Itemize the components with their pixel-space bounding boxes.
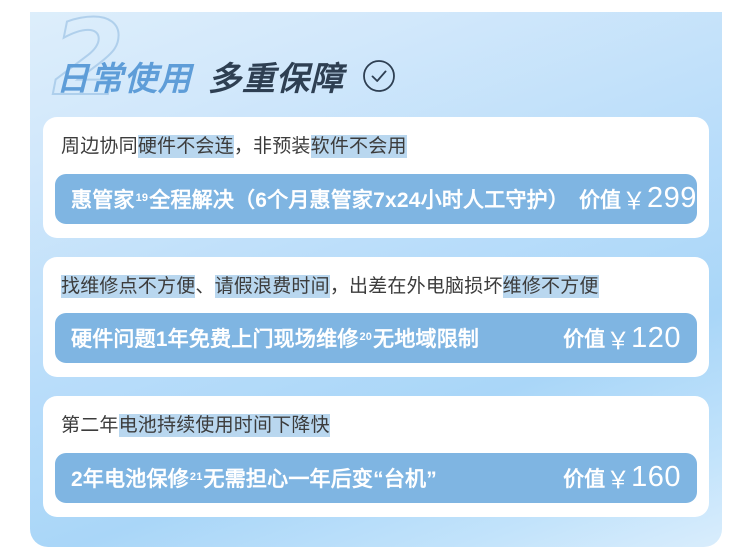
problem-text: ，非预装 xyxy=(234,136,311,157)
problem-statement: 第二年电池持续使用时间下降快 xyxy=(43,410,709,441)
benefit-pill: 惠管家19全程解决（6个月惠管家7x24小时人工守护）价值￥299 xyxy=(55,174,697,224)
problem-highlight: 软件不会用 xyxy=(311,135,407,158)
problem-statement: 找维修点不方便、请假浪费时间，出差在外电脑损坏维修不方便 xyxy=(43,271,709,302)
problem-text: 、 xyxy=(195,276,214,297)
price-label: 价值 xyxy=(563,463,605,493)
check-circle-icon xyxy=(362,59,396,93)
benefit-description-lead: 硬件问题1年免费上门现场维修 xyxy=(71,323,358,353)
problem-highlight: 请假浪费时间 xyxy=(215,275,330,298)
problem-text: 第二年 xyxy=(61,415,119,436)
price-amount: 120 xyxy=(631,322,681,355)
benefit-card: 第二年电池持续使用时间下降快2年电池保修21无需担心一年后变“台机”价值￥160 xyxy=(43,396,709,517)
benefit-value-price: 价值￥299 xyxy=(579,181,697,216)
problem-highlight: 找维修点不方便 xyxy=(61,275,195,298)
benefit-value-price: 价值￥120 xyxy=(563,321,681,356)
benefit-card-list: 周边协同硬件不会连，非预装软件不会用惠管家19全程解决（6个月惠管家7x24小时… xyxy=(43,117,709,517)
problem-text: 周边协同 xyxy=(61,136,138,157)
price-amount: 160 xyxy=(631,461,681,494)
price-amount: 299 xyxy=(647,182,697,215)
problem-statement: 周边协同硬件不会连，非预装软件不会用 xyxy=(43,131,709,162)
price-currency-symbol: ￥ xyxy=(622,181,646,216)
benefit-value-price: 价值￥160 xyxy=(563,460,681,495)
problem-text: ，出差在外电脑损坏 xyxy=(330,276,503,297)
benefit-description-rest: 无需担心一年后变“台机” xyxy=(204,463,437,493)
benefit-description: 惠管家19全程解决（6个月惠管家7x24小时人工守护） xyxy=(71,184,569,214)
problem-highlight: 硬件不会连 xyxy=(138,135,234,158)
benefit-description-lead: 2年电池保修 xyxy=(71,463,189,493)
price-label: 价值 xyxy=(579,184,621,214)
benefit-description: 硬件问题1年免费上门现场维修20无地域限制 xyxy=(71,323,479,353)
promo-page: 2 日常使用 多重保障 周边协同硬件不会连，非预装软件不会用惠管家19全程解决（… xyxy=(0,0,750,547)
problem-highlight: 电池持续使用时间下降快 xyxy=(119,414,330,437)
benefit-description-lead: 惠管家 xyxy=(71,184,135,214)
price-currency-symbol: ￥ xyxy=(606,460,630,495)
benefit-card: 周边协同硬件不会连，非预装软件不会用惠管家19全程解决（6个月惠管家7x24小时… xyxy=(43,117,709,238)
section-title-primary: 日常使用 xyxy=(56,52,192,100)
problem-highlight: 维修不方便 xyxy=(503,275,599,298)
section-header: 日常使用 多重保障 xyxy=(56,52,396,100)
benefit-description: 2年电池保修21无需担心一年后变“台机” xyxy=(71,463,437,493)
benefit-pill: 硬件问题1年免费上门现场维修20无地域限制价值￥120 xyxy=(55,313,697,363)
previous-section-card-edge xyxy=(30,0,722,12)
price-label: 价值 xyxy=(563,323,605,353)
benefit-description-rest: 全程解决（6个月惠管家7x24小时人工守护） xyxy=(149,184,569,214)
benefit-pill: 2年电池保修21无需担心一年后变“台机”价值￥160 xyxy=(55,453,697,503)
section-title-secondary: 多重保障 xyxy=(208,52,344,100)
benefit-card: 找维修点不方便、请假浪费时间，出差在外电脑损坏维修不方便硬件问题1年免费上门现场… xyxy=(43,257,709,378)
price-currency-symbol: ￥ xyxy=(606,321,630,356)
benefit-description-rest: 无地域限制 xyxy=(373,323,479,353)
